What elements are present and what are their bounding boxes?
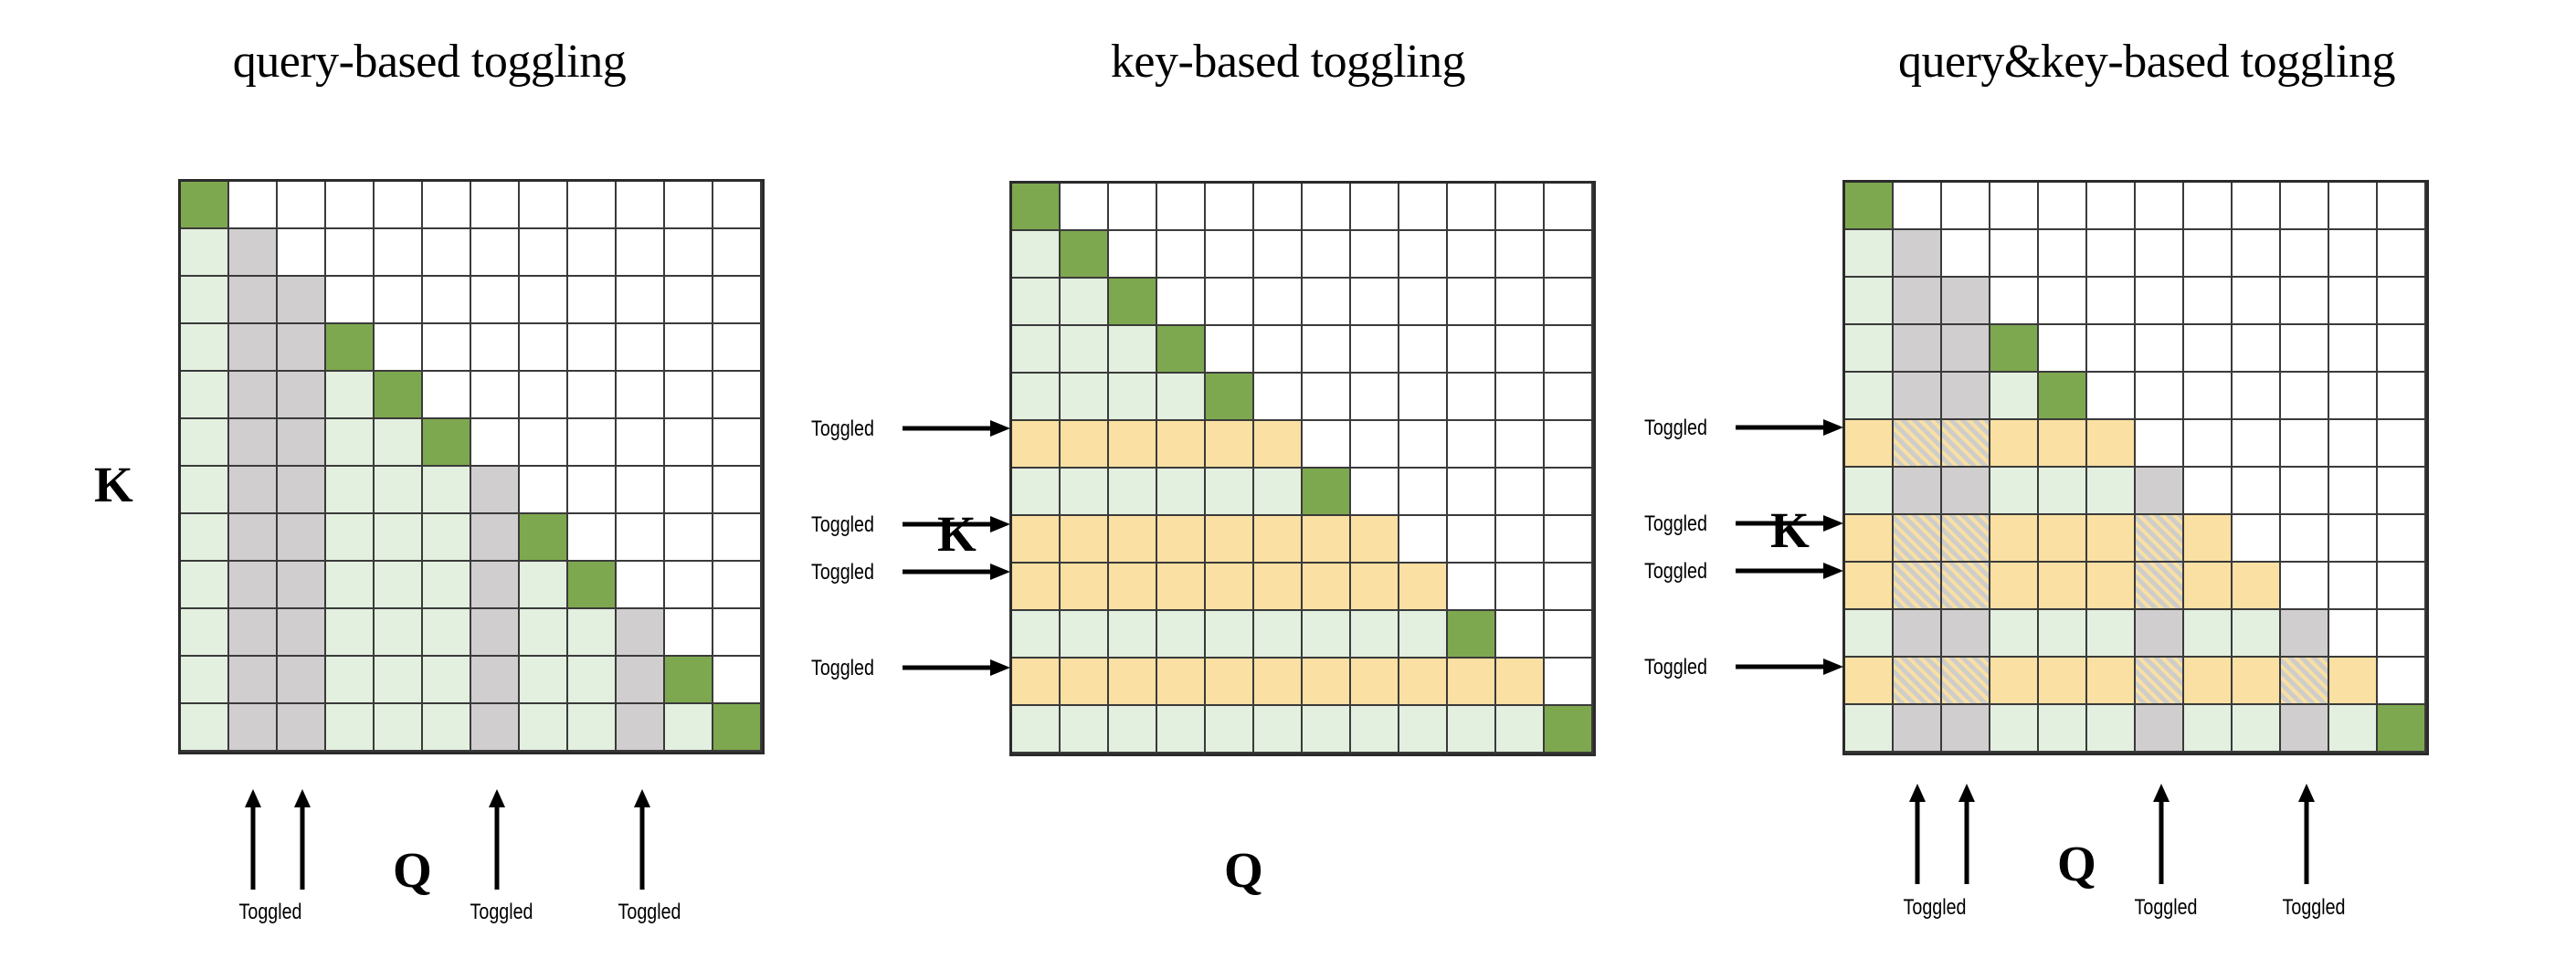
attention-cell	[2039, 373, 2087, 420]
row-axis-label-K: K	[94, 459, 133, 510]
attention-cell	[1206, 374, 1254, 421]
attention-cell	[1942, 230, 1990, 278]
attention-cell	[2136, 420, 2184, 468]
attention-cell	[617, 324, 665, 372]
attention-cell	[326, 704, 375, 752]
attention-cell	[1303, 516, 1351, 564]
attention-cell	[2233, 705, 2281, 753]
attention-cell	[1990, 183, 2039, 230]
attention-cell	[2281, 278, 2329, 325]
attention-cell	[2184, 325, 2233, 373]
attention-cell	[1351, 469, 1399, 516]
attention-cell	[2378, 658, 2426, 705]
attention-cell	[423, 467, 471, 514]
toggled-label-column-6: Toggled	[470, 900, 533, 925]
attention-cell	[1545, 231, 1593, 279]
attention-cell	[1448, 279, 1496, 326]
attention-cell	[423, 562, 471, 609]
toggle-arrow-column-9	[632, 789, 652, 890]
attention-cell	[617, 229, 665, 277]
attention-cell	[1109, 659, 1157, 706]
attention-cell	[1206, 469, 1254, 516]
attention-cell	[2039, 420, 2087, 468]
attention-cell	[520, 182, 568, 229]
attention-cell	[520, 657, 568, 704]
attention-cell	[1254, 326, 1303, 374]
toggle-arrow-row-10	[1736, 659, 1843, 675]
attention-cell	[1254, 374, 1303, 421]
attention-cell	[2233, 373, 2281, 420]
attention-cell	[1894, 420, 1942, 468]
attention-cell	[665, 514, 713, 562]
attention-cell	[1061, 564, 1109, 611]
attention-cell	[2136, 515, 2184, 563]
attention-cell	[1496, 279, 1545, 326]
attention-cell	[2233, 230, 2281, 278]
toggle-arrow-row-7	[1736, 515, 1843, 532]
attention-cell	[1845, 183, 1894, 230]
attention-cell	[1399, 231, 1448, 279]
attention-cell	[1496, 184, 1545, 231]
attention-cell	[1012, 279, 1061, 326]
attention-cell	[2039, 610, 2087, 658]
attention-cell	[2281, 373, 2329, 420]
attention-cell	[1545, 421, 1593, 469]
attention-cell	[278, 324, 326, 372]
attention-cell	[568, 419, 617, 467]
attention-cell	[617, 562, 665, 609]
toggled-label-row-5: Toggled	[811, 416, 874, 442]
attention-cell	[375, 229, 423, 277]
attention-cell	[375, 562, 423, 609]
attention-cell	[2184, 610, 2233, 658]
toggle-arrow-column-9	[2296, 784, 2317, 884]
attention-cell	[471, 657, 520, 704]
attention-cell	[2329, 468, 2378, 515]
attention-cell	[2136, 183, 2184, 230]
attention-cell	[229, 324, 278, 372]
attention-cell	[713, 467, 762, 514]
attention-cell	[713, 609, 762, 657]
attention-cell	[2039, 563, 2087, 610]
attention-cell	[1942, 468, 1990, 515]
attention-cell	[2184, 468, 2233, 515]
attention-cell	[1012, 706, 1061, 753]
attention-grid-query-based	[178, 179, 765, 754]
attention-cell	[1496, 706, 1545, 753]
attention-cell	[1545, 469, 1593, 516]
attention-cell	[1496, 611, 1545, 659]
attention-cell	[2378, 420, 2426, 468]
attention-cell	[568, 609, 617, 657]
attention-cell	[1845, 325, 1894, 373]
toggled-label-columns-1-2: Toggled	[239, 900, 302, 925]
attention-cell	[713, 229, 762, 277]
attention-cell	[1206, 326, 1254, 374]
attention-cell	[2087, 563, 2136, 610]
attention-cell	[2039, 325, 2087, 373]
attention-cell	[2039, 705, 2087, 753]
attention-cell	[2136, 373, 2184, 420]
attention-cell	[1894, 373, 1942, 420]
attention-cell	[1109, 706, 1157, 753]
attention-cell	[2329, 183, 2378, 230]
attention-cell	[568, 657, 617, 704]
attention-cell	[1399, 564, 1448, 611]
attention-cell	[229, 562, 278, 609]
attention-cell	[1303, 231, 1351, 279]
attention-cell	[375, 657, 423, 704]
attention-cell	[665, 704, 713, 752]
attention-cell	[1254, 706, 1303, 753]
attention-cell	[1061, 374, 1109, 421]
attention-cell	[1254, 469, 1303, 516]
attention-cell	[2281, 658, 2329, 705]
attention-cell	[1012, 374, 1061, 421]
attention-cell	[665, 182, 713, 229]
attention-cell	[1894, 563, 1942, 610]
attention-cell	[1545, 326, 1593, 374]
attention-cell	[1942, 610, 1990, 658]
attention-cell	[1845, 230, 1894, 278]
attention-cell	[229, 704, 278, 752]
attention-cell	[665, 562, 713, 609]
attention-cell	[2329, 610, 2378, 658]
attention-cell	[1399, 706, 1448, 753]
attention-cell	[1496, 516, 1545, 564]
attention-cell	[713, 372, 762, 419]
attention-cell	[617, 419, 665, 467]
attention-cell	[665, 372, 713, 419]
attention-cell	[278, 514, 326, 562]
attention-cell	[617, 372, 665, 419]
attention-cell	[1942, 183, 1990, 230]
attention-cell	[1109, 611, 1157, 659]
attention-cell	[1845, 705, 1894, 753]
toggled-label-row-7: Toggled	[811, 512, 874, 538]
attention-cell	[375, 467, 423, 514]
attention-cell	[1496, 659, 1545, 706]
attention-cell	[1496, 374, 1545, 421]
attention-cell	[423, 229, 471, 277]
attention-cell	[375, 419, 423, 467]
attention-cell	[278, 419, 326, 467]
attention-cell	[1061, 184, 1109, 231]
panel-title: query-based toggling	[0, 35, 859, 89]
attention-cell	[1942, 658, 1990, 705]
attention-cell	[423, 657, 471, 704]
attention-cell	[520, 704, 568, 752]
attention-cell	[1109, 184, 1157, 231]
attention-cell	[1990, 610, 2039, 658]
attention-cell	[1206, 184, 1254, 231]
attention-cell	[2378, 468, 2426, 515]
attention-cell	[1109, 279, 1157, 326]
toggle-arrow-row-10	[903, 659, 1010, 676]
attention-cell	[1545, 516, 1593, 564]
toggle-arrow-column-6	[487, 789, 507, 890]
attention-cell	[1157, 184, 1206, 231]
attention-cell	[1894, 610, 1942, 658]
attention-cell	[471, 704, 520, 752]
attention-cell	[2039, 183, 2087, 230]
attention-cell	[1448, 611, 1496, 659]
attention-cell	[568, 467, 617, 514]
attention-cell	[471, 372, 520, 419]
attention-cell	[2087, 610, 2136, 658]
attention-cell	[1012, 611, 1061, 659]
attention-cell	[326, 277, 375, 324]
attention-cell	[1061, 469, 1109, 516]
attention-cell	[1254, 564, 1303, 611]
attention-cell	[2136, 325, 2184, 373]
attention-cell	[1254, 279, 1303, 326]
toggle-arrow-column-6	[2151, 784, 2171, 884]
toggle-arrow-row-8	[1736, 563, 1843, 579]
col-axis-label-Q: Q	[393, 845, 432, 895]
attention-cell	[568, 324, 617, 372]
toggled-label-row-8: Toggled	[1644, 559, 1707, 585]
attention-cell	[2281, 420, 2329, 468]
attention-cell	[713, 562, 762, 609]
attention-cell	[229, 419, 278, 467]
attention-cell	[1303, 611, 1351, 659]
toggle-arrow-row-8	[903, 564, 1010, 580]
attention-cell	[520, 277, 568, 324]
panel-title: key-based toggling	[859, 35, 1717, 89]
attention-cell	[2233, 610, 2281, 658]
attention-cell	[1109, 469, 1157, 516]
attention-cell	[1157, 469, 1206, 516]
col-axis-label-Q: Q	[2057, 838, 2096, 889]
attention-cell	[2329, 705, 2378, 753]
attention-cell	[1990, 325, 2039, 373]
attention-cell	[1399, 326, 1448, 374]
attention-cell	[1894, 230, 1942, 278]
attention-cell	[1845, 420, 1894, 468]
attention-cell	[1448, 659, 1496, 706]
attention-cell	[1351, 326, 1399, 374]
attention-cell	[1942, 278, 1990, 325]
attention-cell	[1012, 659, 1061, 706]
attention-cell	[471, 182, 520, 229]
attention-cell	[1990, 658, 2039, 705]
attention-cell	[665, 467, 713, 514]
attention-cell	[1942, 373, 1990, 420]
attention-cell	[1351, 516, 1399, 564]
attention-cell	[1942, 420, 1990, 468]
attention-cell	[713, 277, 762, 324]
attention-cell	[375, 372, 423, 419]
attention-cell	[181, 514, 229, 562]
attention-cell	[1845, 468, 1894, 515]
attention-cell	[1157, 421, 1206, 469]
toggled-label-row-8: Toggled	[811, 560, 874, 585]
attention-cell	[423, 609, 471, 657]
figure-panels: query-based toggling K Q	[0, 0, 2576, 959]
attention-cell	[326, 229, 375, 277]
attention-cell	[375, 514, 423, 562]
attention-cell	[1157, 706, 1206, 753]
toggled-label-column-9: Toggled	[2283, 895, 2346, 921]
attention-cell	[1990, 515, 2039, 563]
attention-cell	[1303, 279, 1351, 326]
attention-cell	[181, 229, 229, 277]
attention-cell	[1894, 278, 1942, 325]
attention-cell	[2136, 610, 2184, 658]
attention-cell	[1942, 325, 1990, 373]
attention-cell	[2378, 325, 2426, 373]
attention-cell	[2184, 420, 2233, 468]
attention-cell	[2039, 658, 2087, 705]
toggled-label-columns-1-2: Toggled	[1904, 895, 1967, 921]
attention-cell	[471, 419, 520, 467]
attention-cell	[2087, 705, 2136, 753]
attention-cell	[1061, 326, 1109, 374]
attention-cell	[181, 704, 229, 752]
attention-cell	[278, 467, 326, 514]
attention-cell	[1012, 516, 1061, 564]
attention-cell	[1206, 279, 1254, 326]
attention-cell	[2281, 230, 2329, 278]
attention-cell	[2184, 230, 2233, 278]
toggled-label-row-10: Toggled	[811, 656, 874, 681]
attention-cell	[1894, 468, 1942, 515]
attention-cell	[617, 182, 665, 229]
toggle-arrow-row-5	[903, 420, 1010, 437]
attention-cell	[229, 609, 278, 657]
attention-cell	[1254, 516, 1303, 564]
attention-cell	[1303, 374, 1351, 421]
attention-cell	[1448, 516, 1496, 564]
attention-cell	[2329, 325, 2378, 373]
attention-cell	[1206, 231, 1254, 279]
attention-cell	[2087, 373, 2136, 420]
attention-cell	[1845, 610, 1894, 658]
attention-cell	[1845, 563, 1894, 610]
attention-cell	[181, 372, 229, 419]
attention-cell	[2281, 515, 2329, 563]
attention-cell	[1206, 421, 1254, 469]
attention-cell	[1448, 469, 1496, 516]
attention-cell	[1351, 611, 1399, 659]
attention-cell	[2378, 373, 2426, 420]
attention-cell	[1303, 469, 1351, 516]
attention-cell	[1990, 373, 2039, 420]
attention-cell	[1399, 374, 1448, 421]
attention-cell	[2233, 420, 2281, 468]
toggled-label-row-5: Toggled	[1644, 416, 1707, 441]
attention-cell	[423, 182, 471, 229]
attention-cell	[1496, 564, 1545, 611]
attention-cell	[1254, 659, 1303, 706]
attention-cell	[1545, 611, 1593, 659]
attention-grid-key-based	[1009, 181, 1596, 756]
attention-cell	[278, 562, 326, 609]
attention-cell	[617, 704, 665, 752]
attention-cell	[713, 657, 762, 704]
attention-cell	[1109, 231, 1157, 279]
attention-cell	[471, 467, 520, 514]
attention-cell	[2136, 658, 2184, 705]
attention-cell	[1399, 279, 1448, 326]
attention-cell	[1894, 515, 1942, 563]
attention-cell	[1496, 469, 1545, 516]
attention-cell	[229, 514, 278, 562]
attention-cell	[2087, 515, 2136, 563]
attention-cell	[1303, 564, 1351, 611]
attention-cell	[2136, 230, 2184, 278]
attention-cell	[375, 182, 423, 229]
attention-cell	[1303, 421, 1351, 469]
attention-cell	[2281, 610, 2329, 658]
attention-cell	[1990, 420, 2039, 468]
attention-cell	[1894, 325, 1942, 373]
attention-cell	[326, 562, 375, 609]
attention-cell	[2281, 705, 2329, 753]
attention-cell	[665, 657, 713, 704]
attention-cell	[1157, 564, 1206, 611]
attention-cell	[520, 562, 568, 609]
attention-cell	[1545, 279, 1593, 326]
attention-cell	[1545, 184, 1593, 231]
toggled-label-column-9: Toggled	[618, 900, 681, 925]
attention-cell	[665, 229, 713, 277]
attention-cell	[181, 324, 229, 372]
attention-cell	[1012, 469, 1061, 516]
attention-cell	[665, 277, 713, 324]
attention-cell	[568, 277, 617, 324]
col-axis-label-Q: Q	[1224, 845, 1263, 895]
attention-cell	[471, 562, 520, 609]
attention-cell	[1942, 705, 1990, 753]
attention-cell	[1399, 469, 1448, 516]
attention-cell	[2233, 515, 2281, 563]
attention-cell	[2281, 563, 2329, 610]
attention-cell	[2184, 278, 2233, 325]
attention-cell	[1061, 516, 1109, 564]
attention-cell	[2233, 658, 2281, 705]
attention-cell	[1206, 659, 1254, 706]
attention-cell	[1061, 611, 1109, 659]
attention-grid-query-and-key-based	[1842, 180, 2429, 755]
attention-cell	[1845, 658, 1894, 705]
attention-cell	[375, 277, 423, 324]
attention-cell	[713, 182, 762, 229]
attention-cell	[1206, 564, 1254, 611]
attention-cell	[1206, 516, 1254, 564]
attention-cell	[2378, 563, 2426, 610]
attention-cell	[2281, 325, 2329, 373]
attention-cell	[375, 609, 423, 657]
attention-cell	[2039, 278, 2087, 325]
attention-cell	[278, 277, 326, 324]
attention-cell	[326, 182, 375, 229]
attention-cell	[2087, 183, 2136, 230]
attention-cell	[1351, 564, 1399, 611]
attention-cell	[617, 609, 665, 657]
attention-cell	[229, 277, 278, 324]
attention-cell	[1061, 659, 1109, 706]
attention-cell	[1303, 326, 1351, 374]
attention-cell	[181, 419, 229, 467]
panel-query-based: query-based toggling K Q	[0, 0, 859, 959]
attention-cell	[617, 277, 665, 324]
attention-cell	[2329, 515, 2378, 563]
attention-cell	[713, 419, 762, 467]
attention-cell	[1351, 706, 1399, 753]
attention-cell	[2087, 468, 2136, 515]
